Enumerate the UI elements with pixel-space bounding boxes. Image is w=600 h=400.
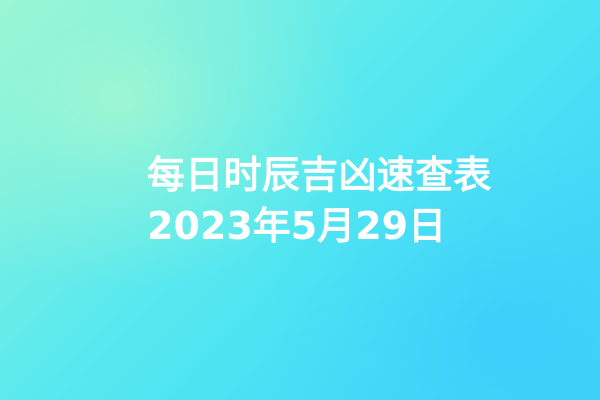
- banner-title-line-1: 每日时辰吉凶速查表: [147, 150, 567, 201]
- banner-card: 每日时辰吉凶速查表 2023年5月29日: [0, 0, 600, 400]
- banner-title-block: 每日时辰吉凶速查表 2023年5月29日: [147, 150, 567, 252]
- banner-title-line-2: 2023年5月29日: [147, 201, 567, 252]
